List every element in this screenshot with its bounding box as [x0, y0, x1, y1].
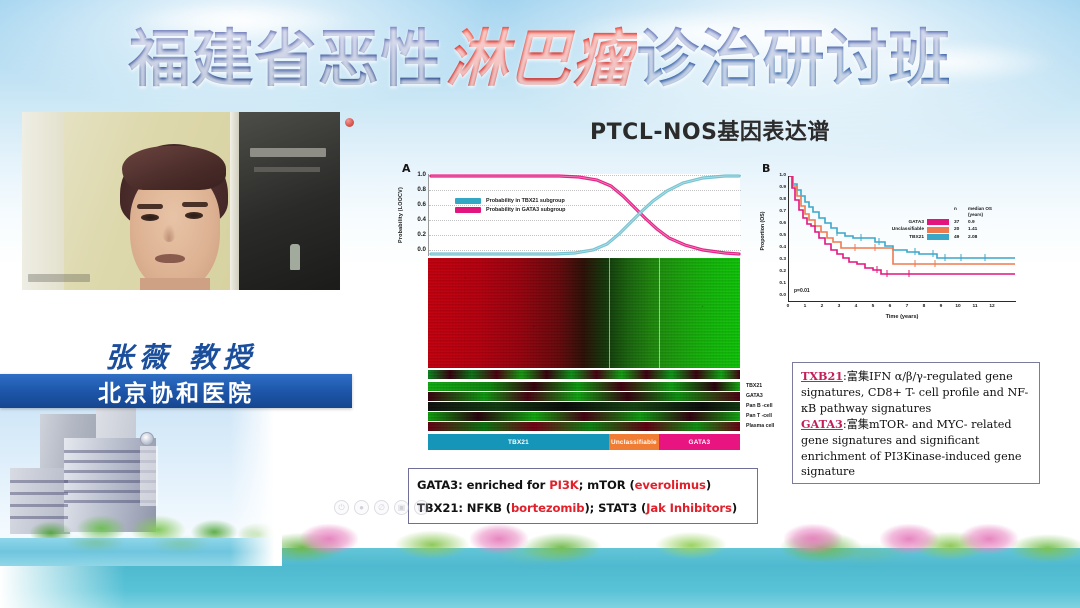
note-line-gata3: GATA3:富集mTOR- and MYC- related gene sign…	[801, 417, 1031, 481]
gata3-suffix: )	[706, 478, 711, 492]
panel-a-ytick: 0.8	[406, 186, 426, 193]
camera-icon[interactable]: ▣	[394, 500, 409, 515]
gata3-target-pi3k: PI3K	[549, 478, 578, 492]
legend-median-gata3: 0.9	[968, 220, 990, 225]
panel-b-xtick: 1	[800, 304, 810, 309]
therapy-line-gata3: GATA3: enriched for PI3K; mTOR (everolim…	[417, 478, 749, 492]
subgroup-color-bar: TBX21 Unclassifiable GATA3	[428, 434, 740, 450]
gata3-mid: ; mTOR (	[579, 478, 635, 492]
panel-b-ytick: 0.6	[766, 221, 786, 226]
rec-dot-icon	[345, 118, 354, 127]
slide-title: PTCL-NOS基因表达谱	[360, 114, 1060, 146]
tbx21-suffix: )	[732, 501, 737, 515]
floating-toolbar[interactable]: ⏻ ● ∅ ▣ ▢	[334, 500, 429, 515]
tbx21-prefix: TBX21: NFKB (	[417, 501, 511, 515]
panel-a-legend: Probability in TBX21 subgroup Probabilit…	[455, 198, 565, 216]
legend-item: Probability in GATA3 subgroup	[455, 207, 565, 213]
record-icon[interactable]: ●	[354, 500, 369, 515]
legend-header-n: n	[954, 206, 968, 211]
panel-b-ytick: 0.3	[766, 257, 786, 262]
heatmap-row	[428, 402, 740, 411]
presenter-eyebrow-right	[182, 202, 208, 207]
event-title-band: 福建省恶性淋巴瘤诊治研讨班	[0, 16, 1080, 102]
heatmap-signature-rows: TBX21 GATA3 Pan B -cell Pan T -cell Plas…	[428, 382, 740, 432]
presenter-eye-right	[185, 212, 203, 219]
panel-b-xtick: 6	[885, 304, 895, 309]
presenter-webcam-feed[interactable]	[22, 112, 340, 290]
panel-b-xlabel: Time (years)	[788, 314, 1016, 320]
panel-b-ytick: 1.0	[766, 173, 786, 178]
title-segment-2: 淋巴瘤	[443, 22, 636, 95]
legend-header-units-row: (years)	[885, 212, 998, 217]
heatmap-row	[428, 392, 740, 401]
heatmap-row-texture	[428, 392, 740, 401]
panel-a-ytick: 0.0	[406, 246, 426, 253]
panel-b-xtick: 4	[851, 304, 861, 309]
presenter-nose	[162, 224, 176, 242]
panel-b-ytick: 0.8	[766, 197, 786, 202]
panel-a-ytick: 1.0	[406, 171, 426, 178]
figure-panel-a: A Probability (LOOCV) 1.0 0.8 0.6 0.4 0.…	[400, 162, 745, 467]
panel-b-ytick: 0.1	[766, 281, 786, 286]
power-icon[interactable]: ⏻	[334, 500, 349, 515]
tbx21-mid: ); STAT3 (	[584, 501, 646, 515]
heatmap-row-texture	[428, 412, 740, 421]
legend-header-units: (years)	[968, 212, 998, 217]
page-title: 福建省恶性淋巴瘤诊治研讨班	[128, 28, 951, 90]
panel-b-xtick: 3	[834, 304, 844, 309]
presenter-organization-banner: 北京协和医院	[0, 374, 352, 408]
mute-icon[interactable]: ∅	[374, 500, 389, 515]
panel-a-probability-plot: Probability in TBX21 subgroup Probabilit…	[428, 174, 740, 256]
presenter-neck	[140, 278, 210, 290]
heatmap-row	[428, 422, 740, 431]
hospital-signboard	[140, 446, 158, 506]
panel-b-xtick: 0	[783, 304, 793, 309]
webcam-background-wall-left	[22, 112, 64, 290]
legend-name-unclassifiable: Unclassifiable	[885, 227, 927, 232]
gata3-prefix: GATA3: enriched for	[417, 478, 549, 492]
panel-a-ytick: 0.4	[406, 216, 426, 223]
heatmap-row-label-plasma-cell: Plasma cell	[746, 422, 774, 431]
tbx21-drug-bortezomib: bortezomib	[511, 501, 584, 515]
legend-n-gata3: 37	[954, 220, 968, 225]
presenter-name-label: 张薇 教授	[105, 336, 257, 376]
panel-a-ytick: 0.2	[406, 231, 426, 238]
webcam-shelf	[254, 167, 320, 172]
panel-b-xtick: 9	[936, 304, 946, 309]
panel-b-xtick: 5	[868, 304, 878, 309]
note-line-tbx21: TXB21:富集IFN α/β/γ-regulated gene signatu…	[801, 369, 1031, 417]
legend-item-unclassifiable: Unclassifiable 20 1.41	[885, 227, 998, 233]
legend-name-tbx21: TBX21	[885, 235, 927, 240]
signature-notes-box: TXB21:富集IFN α/β/γ-regulated gene signatu…	[792, 362, 1040, 484]
legend-header: n median OS	[885, 206, 998, 211]
webcam-background-doorway	[234, 112, 340, 290]
legend-swatch-tbx21	[455, 198, 481, 204]
heatmap-subbar	[428, 370, 740, 379]
legend-item-gata3: GATA3 37 0.9	[885, 219, 998, 225]
legend-median-unclassifiable: 1.41	[968, 227, 990, 232]
gata3-drug-everolimus: everolimus	[635, 478, 706, 492]
presenter-eyebrow-left	[137, 204, 163, 209]
legend-header-median: median OS	[968, 206, 998, 211]
panel-b-ylabel: Proportion (OS)	[760, 196, 770, 266]
hospital-logo-icon	[140, 432, 154, 446]
hospital-window-band	[10, 492, 68, 495]
legend-label-tbx21: Probability in TBX21 subgroup	[486, 198, 565, 204]
heatmap-row-label-tbx21: TBX21	[746, 382, 762, 391]
panel-b-xtick: 11	[970, 304, 980, 309]
webcam-bottle	[290, 244, 300, 270]
therapy-line-tbx21: TBX21: NFKB (bortezomib); STAT3 (Jak Inh…	[417, 501, 749, 515]
legend-swatch-tbx21	[927, 234, 949, 240]
panel-b-ytick: 0.4	[766, 245, 786, 250]
heatmap-subbar-texture	[428, 370, 740, 379]
hospital-window-band	[10, 504, 68, 507]
gene-expression-heatmap	[428, 258, 740, 368]
tbx21-drug-jak-inhibitors: Jak Inhibitors	[646, 501, 732, 515]
legend-item-tbx21: TBX21 49 2.08	[885, 234, 998, 240]
subgroup-segment-unclassifiable: Unclassifiable	[609, 434, 659, 450]
legend-label-gata3: Probability in GATA3 subgroup	[486, 207, 565, 213]
organization-label: 北京协和医院	[98, 374, 254, 408]
heatmap-row-texture	[428, 402, 740, 411]
heatmap-row-label-pan-b-cell: Pan B -cell	[746, 402, 773, 411]
legend-n-tbx21: 49	[954, 235, 968, 240]
heatmap-group-divider	[659, 258, 660, 368]
note-key-txb21: TXB21	[801, 369, 843, 383]
presenter-fringe	[122, 146, 226, 190]
heatmap-row-texture	[428, 382, 740, 391]
heatmap-row-label-pan-t-cell: Pan T -cell	[746, 412, 772, 421]
webcam-shelf	[250, 148, 326, 157]
legend-n-unclassifiable: 20	[954, 227, 968, 232]
note-key-gata3: GATA3	[801, 417, 843, 431]
webcam-door-frame	[230, 112, 239, 290]
hospital-photo	[0, 406, 282, 566]
panel-b-ytick: 0.2	[766, 269, 786, 274]
lock-icon[interactable]: ▢	[414, 500, 429, 515]
heatmap-row	[428, 412, 740, 421]
panel-b-ytick: 0.5	[766, 233, 786, 238]
presenter-eye-left	[141, 214, 159, 221]
panel-b-ytick: 0.9	[766, 185, 786, 190]
panel-b-legend: n median OS (years) GATA3 37 0.9	[885, 206, 998, 242]
heatmap-row-texture	[428, 422, 740, 431]
legend-swatch-gata3	[927, 219, 949, 225]
webcam-timestamp-overlay	[28, 274, 90, 282]
presenter-mouth	[155, 254, 185, 263]
title-segment-3: 诊治研讨班	[637, 22, 952, 95]
kaplan-meier-plot: n median OS (years) GATA3 37 0.9	[788, 176, 1016, 302]
legend-swatch-unclassifiable	[927, 227, 949, 233]
heatmap-row	[428, 382, 740, 391]
slide-stage: 福建省恶性淋巴瘤诊治研讨班 张薇 教授 北京协和医院	[0, 0, 1080, 608]
slide-content: PTCL-NOS基因表达谱 A Probability (LOOCV) 1.0 …	[360, 100, 1060, 532]
hospital-window-band	[10, 480, 68, 483]
panel-b-ytick: 0.7	[766, 209, 786, 214]
subgroup-segment-tbx21: TBX21	[428, 434, 609, 450]
heatmap-speckle	[428, 258, 740, 368]
legend-swatch-gata3	[455, 207, 481, 213]
panel-b-ytick: 0.0	[766, 293, 786, 298]
panel-b-xtick: 2	[817, 304, 827, 309]
panel-b-xtick: 8	[919, 304, 929, 309]
legend-median-tbx21: 2.08	[968, 235, 990, 240]
panel-b-xtick: 12	[987, 304, 997, 309]
presenter-name: 张薇 教授	[22, 336, 340, 376]
heatmap-group-divider	[609, 258, 610, 368]
therapy-targets-box: GATA3: enriched for PI3K; mTOR (everolim…	[408, 468, 758, 524]
subgroup-segment-gata3: GATA3	[659, 434, 740, 450]
panel-a-ytick: 0.6	[406, 201, 426, 208]
legend-name-gata3: GATA3	[885, 220, 927, 225]
title-segment-1: 福建省恶性	[128, 22, 443, 95]
heatmap-row-label-gata3: GATA3	[746, 392, 763, 401]
panel-b-xtick: 7	[902, 304, 912, 309]
panel-b-pvalue: p=0.01	[794, 288, 810, 294]
panel-b-xtick: 10	[953, 304, 963, 309]
figure-panel-b: B Proportion (OS) 1.0 0.9 0.8 0.7 0.6 0.…	[758, 162, 1050, 342]
hospital-photo-fade	[230, 406, 282, 566]
legend-item: Probability in TBX21 subgroup	[455, 198, 565, 204]
